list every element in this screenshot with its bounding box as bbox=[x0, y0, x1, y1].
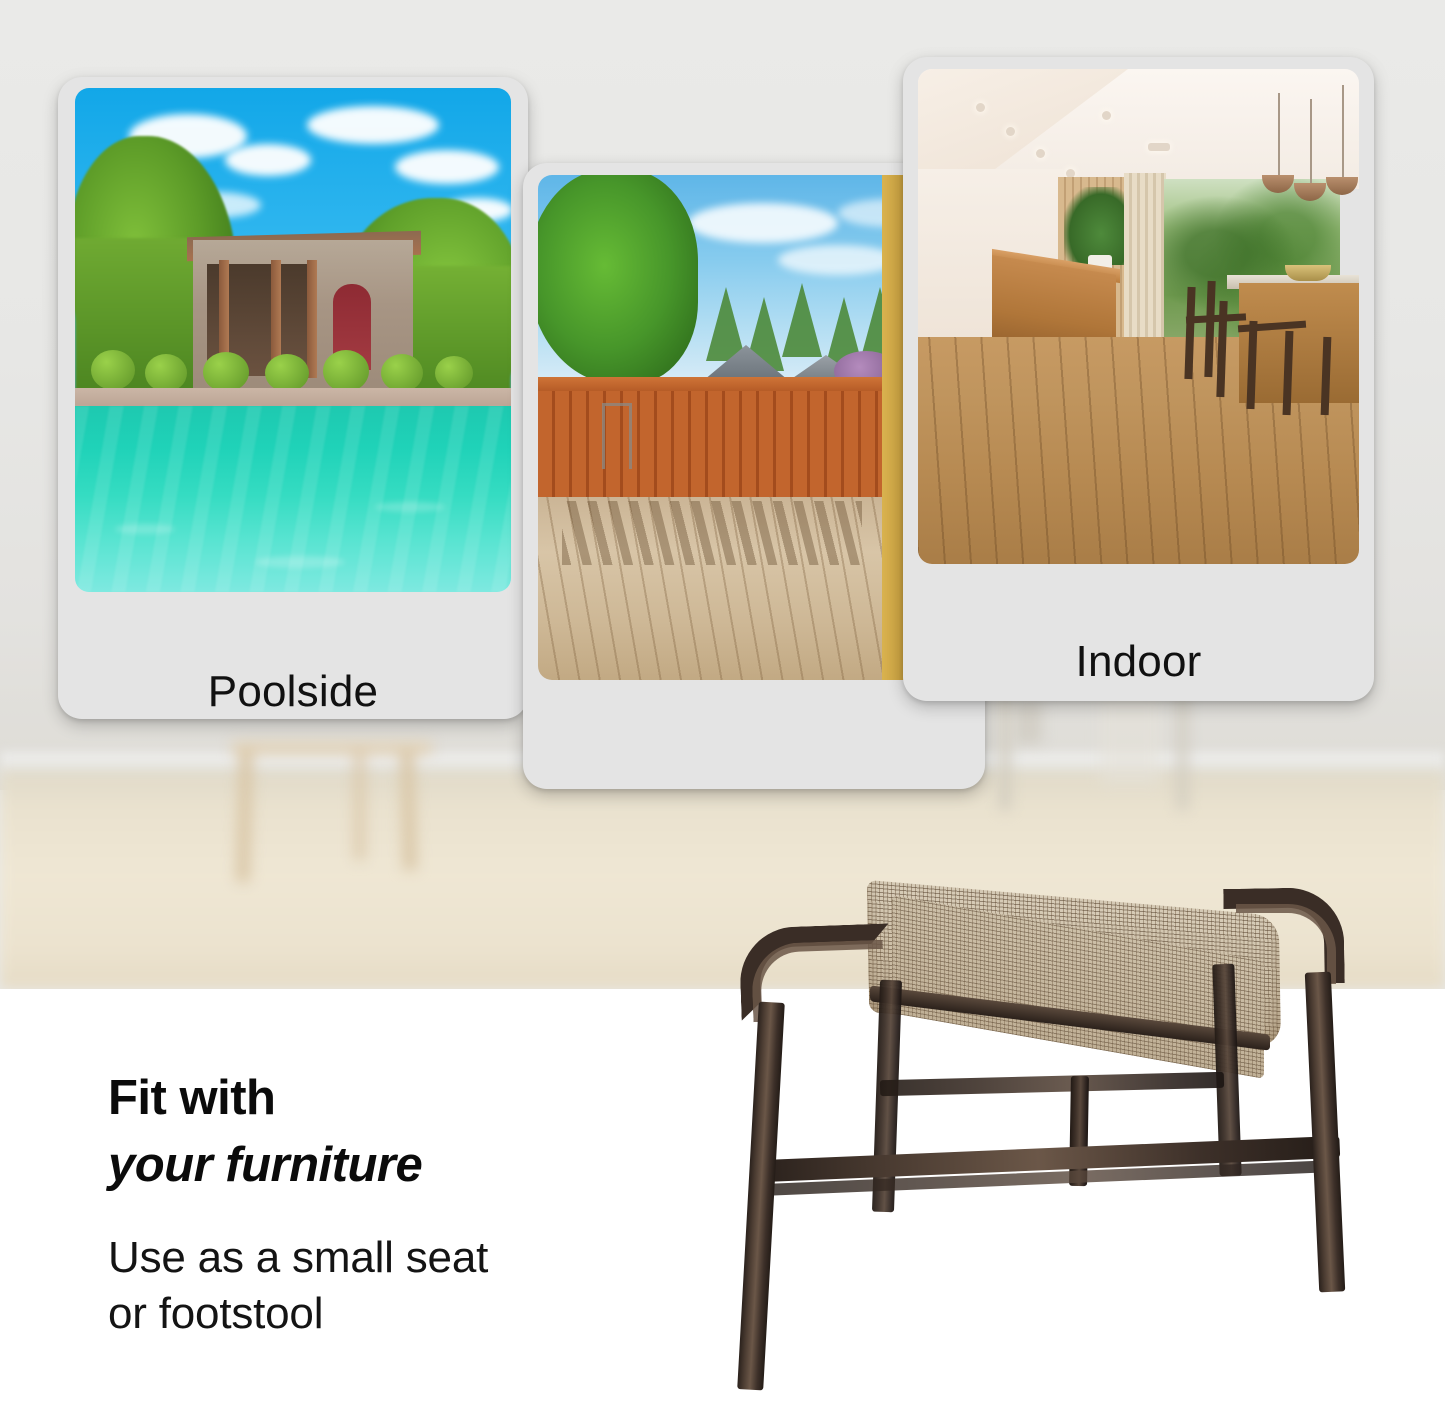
promo-headline-line2: your furniture bbox=[108, 1137, 728, 1194]
use-case-card-poolside[interactable]: Poolside bbox=[58, 77, 528, 719]
promo-copy: Fit with your furniture Use as a small s… bbox=[108, 1070, 728, 1342]
indoor-dining-table bbox=[1239, 283, 1359, 403]
background-table bbox=[232, 742, 432, 882]
balcony-conifer-tree bbox=[538, 175, 698, 384]
indoor-curtain bbox=[1124, 173, 1166, 349]
background-object bbox=[1016, 700, 1042, 744]
promo-subtext-line2: or footstool bbox=[108, 1286, 728, 1342]
balcony-metal-stand bbox=[602, 403, 632, 469]
ottoman-leg-front-left bbox=[737, 1002, 785, 1391]
card-label-indoor: Indoor bbox=[903, 637, 1374, 687]
card-label-poolside: Poolside bbox=[58, 667, 528, 717]
pool-water bbox=[75, 406, 511, 592]
ottoman-leg-front-right bbox=[1305, 972, 1345, 1293]
background-doorway bbox=[1100, 690, 1160, 786]
poolside-photo bbox=[75, 88, 511, 592]
promo-subtext-line1: Use as a small seat bbox=[108, 1230, 728, 1286]
balcony-railing bbox=[538, 377, 918, 503]
indoor-fruit-bowl bbox=[1285, 265, 1331, 281]
background-door-frame-right bbox=[1178, 690, 1187, 810]
background-door-frame-left bbox=[1000, 690, 1010, 810]
ottoman-stretcher-back bbox=[880, 1072, 1224, 1096]
use-case-card-indoor[interactable]: Indoor bbox=[903, 57, 1374, 701]
product-ottoman bbox=[700, 880, 1390, 1410]
promo-headline-line1: Fit with bbox=[108, 1070, 728, 1127]
indoor-photo bbox=[918, 69, 1359, 564]
product-feature-banner: Poolside bbox=[0, 0, 1445, 1427]
balcony-deck-shadow bbox=[562, 501, 862, 565]
poolside-hedge-left bbox=[75, 238, 207, 408]
